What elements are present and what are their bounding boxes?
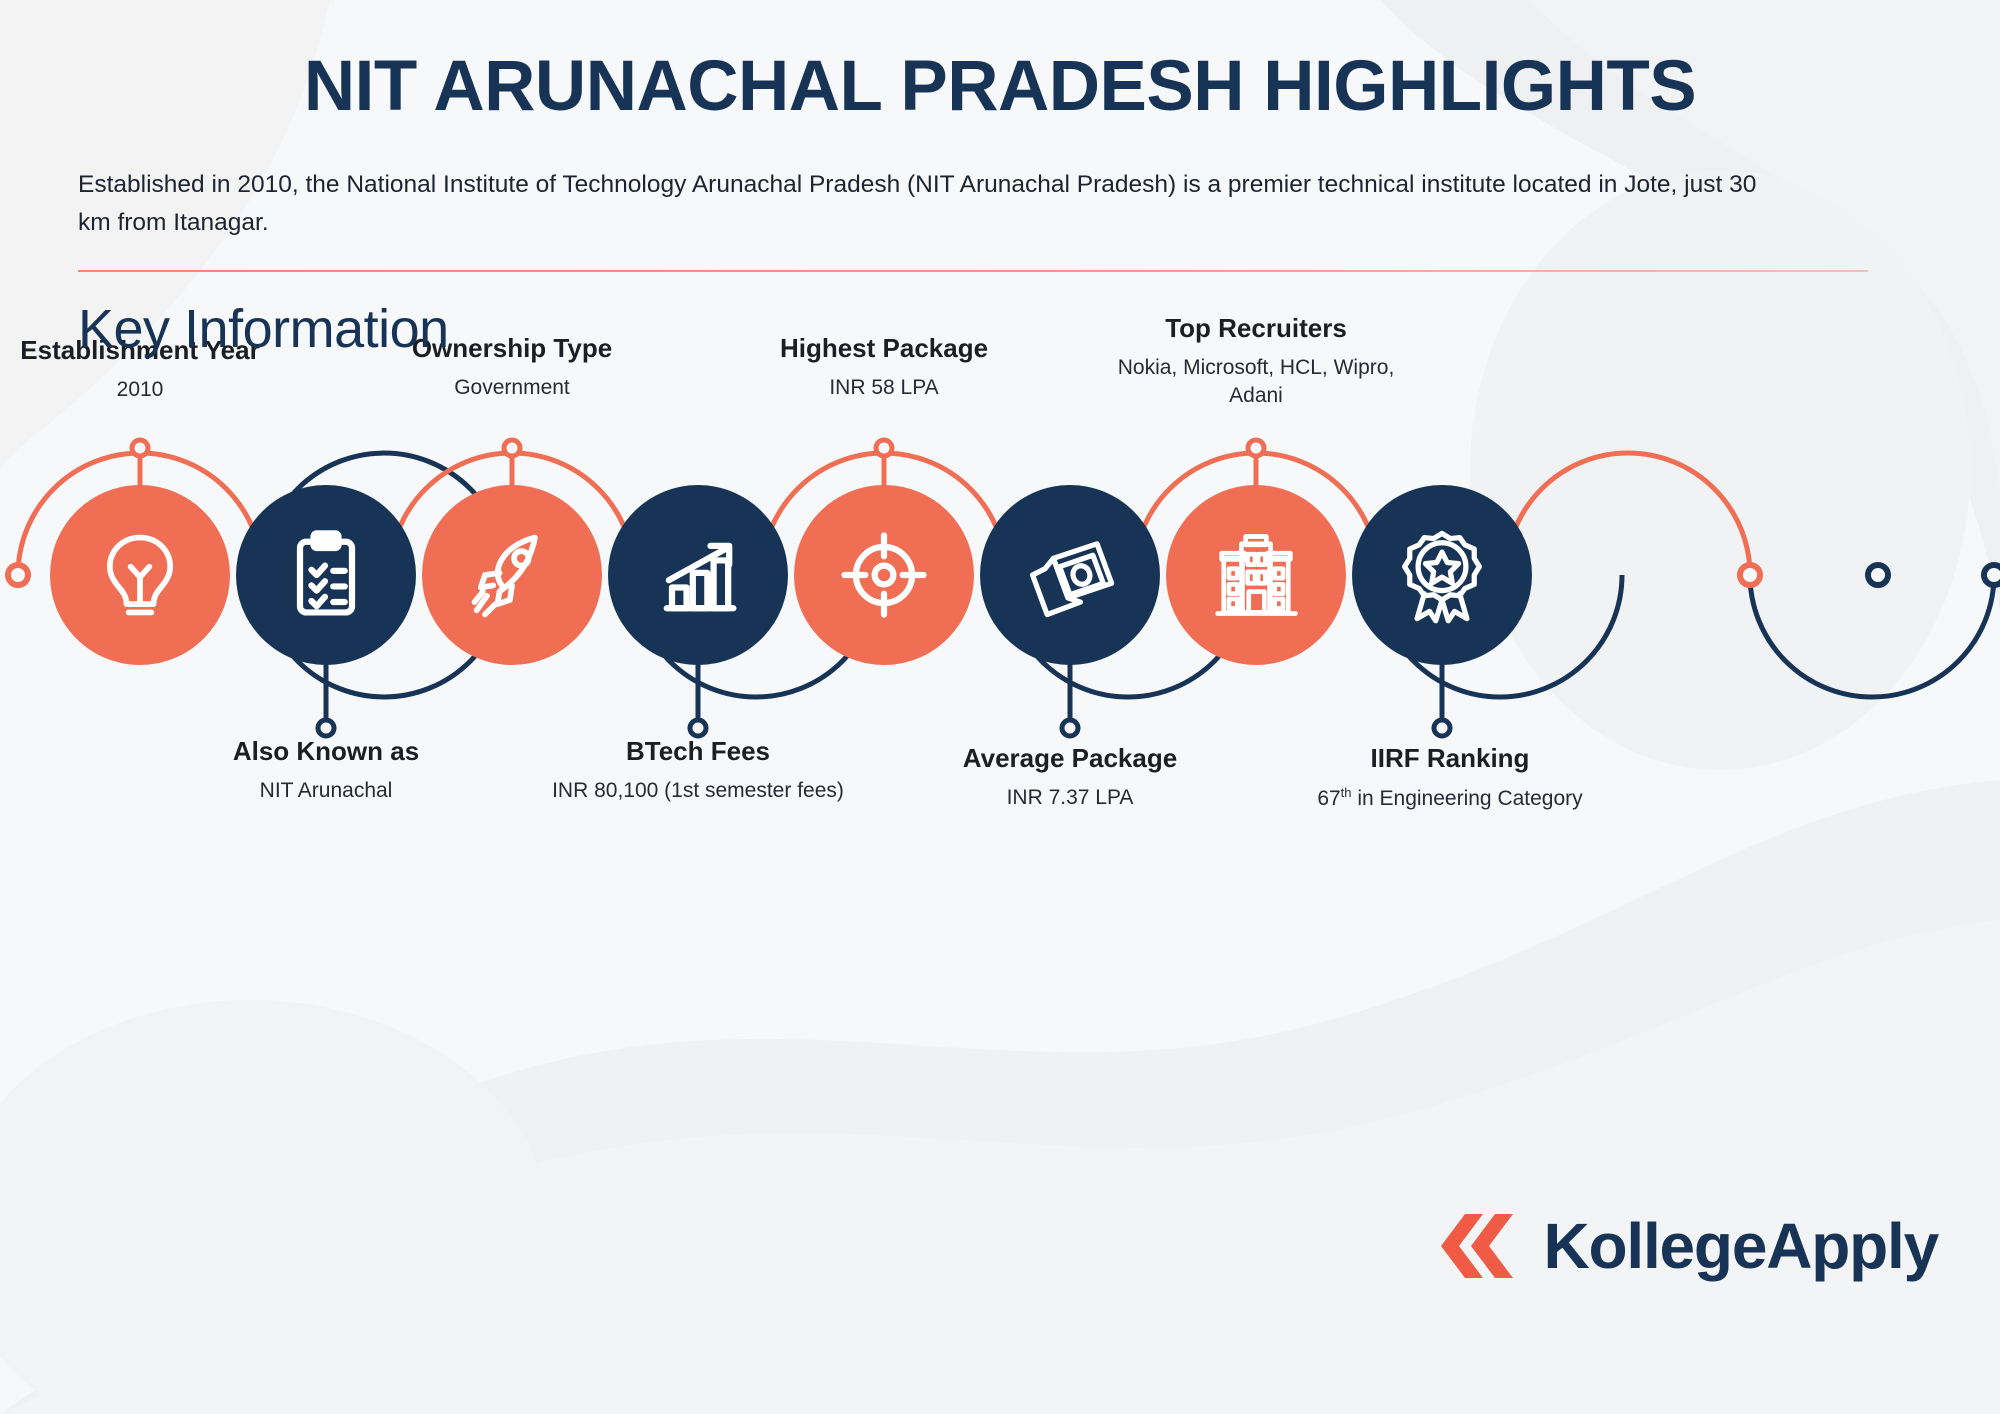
node-circle-coral	[1166, 485, 1346, 665]
brand-logo: KollegeApply	[1437, 1206, 1938, 1286]
banknotes-icon	[1018, 523, 1122, 627]
lightbulb-icon	[88, 523, 192, 627]
clipboard-checklist-icon	[274, 523, 378, 627]
node-value: INR 58 LPA	[674, 374, 1094, 402]
node-circle-navy	[1352, 485, 1532, 665]
page-header: NIT ARUNACHAL PRADESH HIGHLIGHTS Establi…	[0, 0, 2000, 360]
page-title: NIT ARUNACHAL PRADESH HIGHLIGHTS	[78, 48, 1922, 126]
node-circle-navy	[236, 485, 416, 665]
brand-name: KollegeApply	[1543, 1214, 1938, 1278]
kollegeapply-chevron-logo	[1437, 1206, 1521, 1286]
rocket-icon	[460, 523, 564, 627]
target-crosshair-icon	[832, 523, 936, 627]
node-circle-coral	[794, 485, 974, 665]
key-information-timeline: Establishment Year 2010 Also Known as NI…	[0, 400, 2000, 1100]
header-divider	[78, 270, 1868, 272]
building-icon	[1204, 523, 1308, 627]
bar-chart-growth-icon	[646, 523, 750, 627]
node-circle-coral	[50, 485, 230, 665]
award-ribbon-icon	[1390, 523, 1494, 627]
node-circle-coral	[422, 485, 602, 665]
section-title: Key Information	[78, 298, 1922, 360]
node-value: Government	[302, 374, 722, 402]
page-subtitle: Established in 2010, the National Instit…	[78, 166, 1778, 242]
node-circle-navy	[608, 485, 788, 665]
node-circle-navy	[980, 485, 1160, 665]
